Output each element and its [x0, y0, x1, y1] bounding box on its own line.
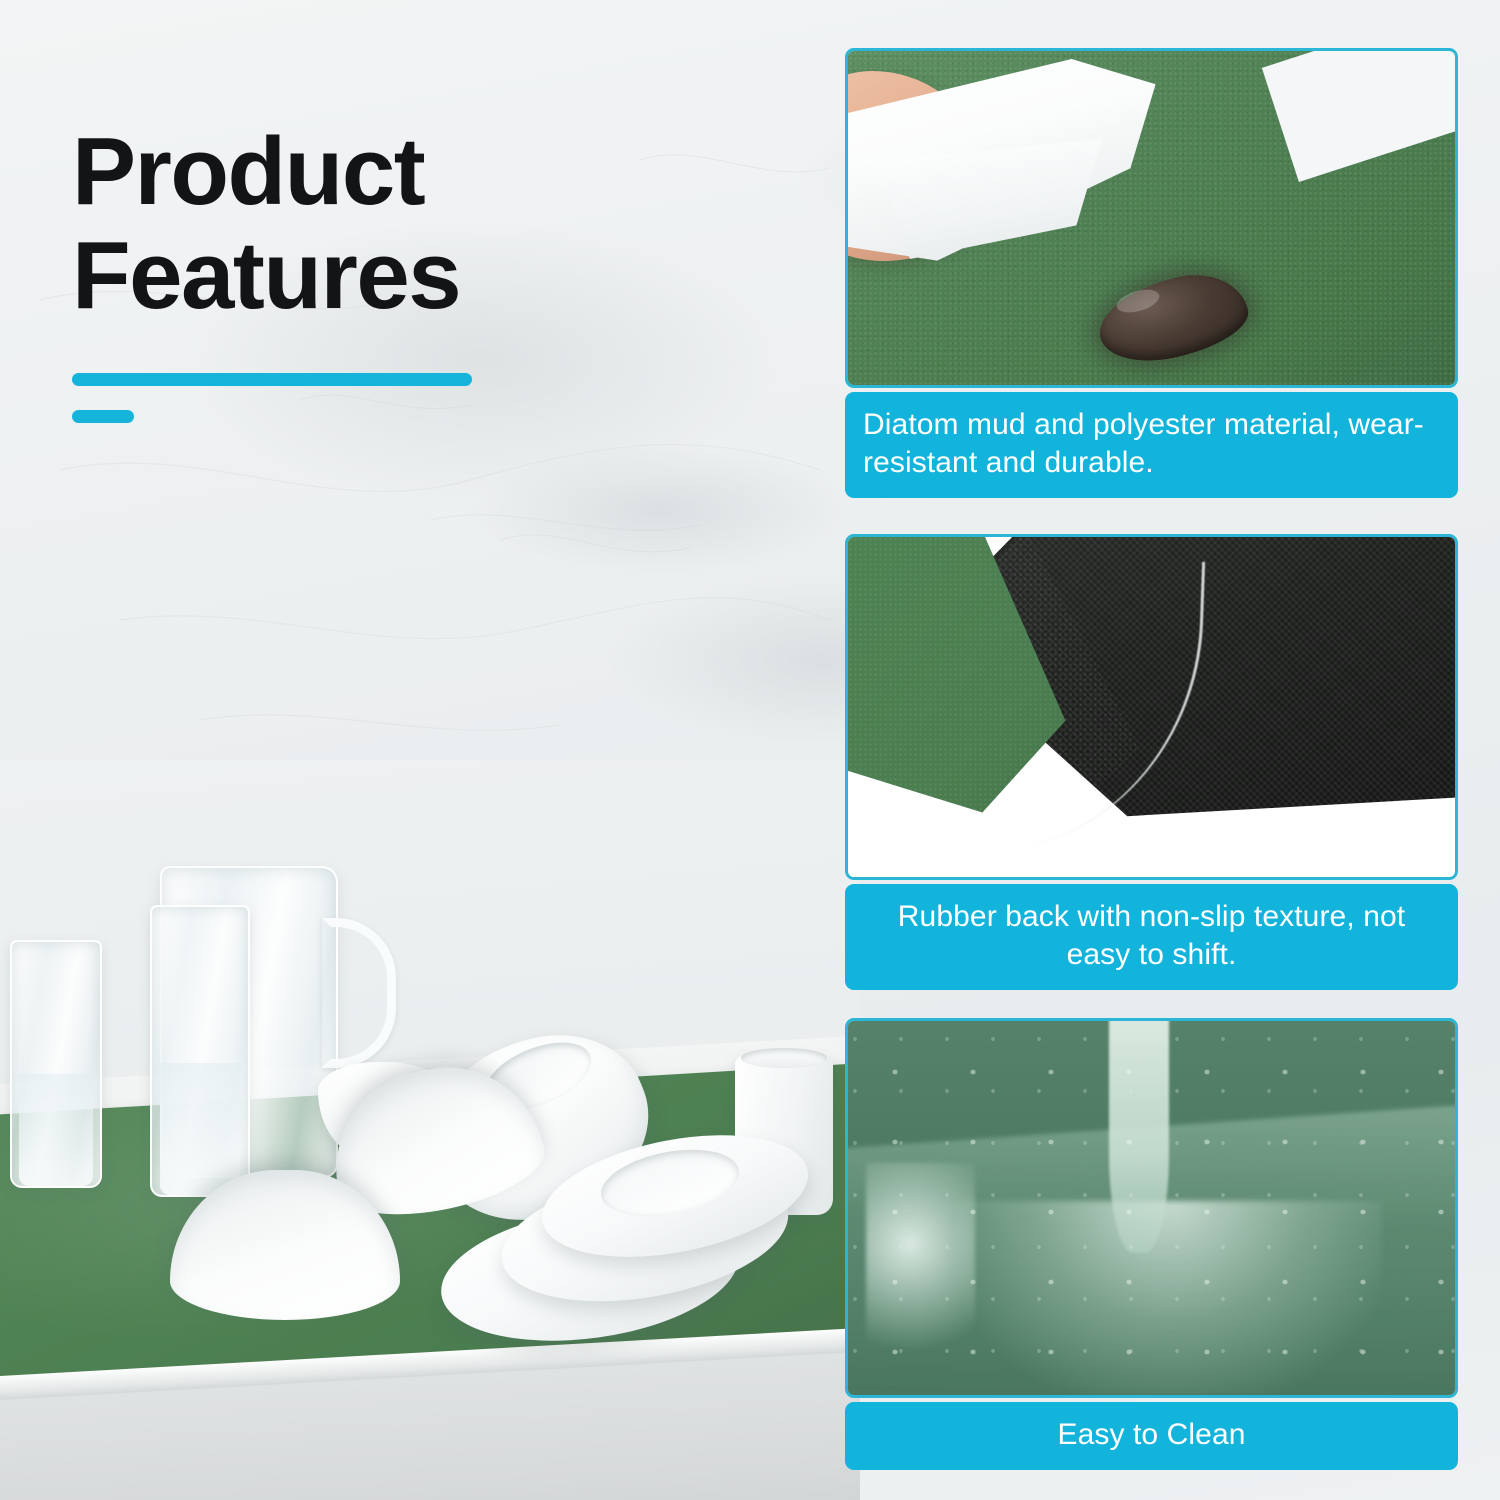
- page-title: ProductFeatures: [72, 120, 712, 327]
- water-droplets: [848, 1021, 1455, 1395]
- feature-card-non-slip-back: Rubber back with non-slip texture, not e…: [845, 534, 1458, 990]
- accent-bar-long: [72, 373, 472, 386]
- title-line-2: Features: [72, 222, 460, 329]
- feature-caption-easy-clean: Easy to Clean: [845, 1402, 1458, 1470]
- feature-caption-absorbency: Diatom mud and polyester material, wear-…: [845, 392, 1458, 498]
- feature-card-absorbency: Diatom mud and polyester material, wear-…: [845, 48, 1458, 498]
- accent-bar-short: [72, 410, 134, 423]
- feature-caption-non-slip-back: Rubber back with non-slip texture, not e…: [845, 884, 1458, 990]
- drinking-glass: [150, 905, 250, 1197]
- title-line-1: Product: [72, 118, 424, 225]
- product-features-infographic: ProductFeatures: [0, 0, 1500, 1500]
- feature-photo-easy-clean: [845, 1018, 1458, 1398]
- drinking-glass: [10, 940, 102, 1188]
- accent-bars: [72, 373, 712, 423]
- feature-photo-absorbency: [845, 48, 1458, 388]
- feature-card-easy-clean: Easy to Clean: [845, 1018, 1458, 1470]
- headline-block: ProductFeatures: [72, 120, 712, 423]
- feature-photo-non-slip-back: [845, 534, 1458, 880]
